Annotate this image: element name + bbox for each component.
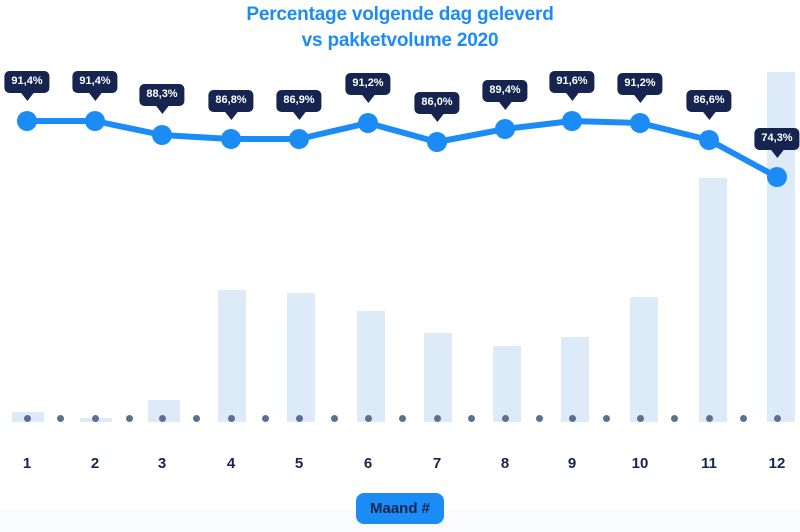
data-label-month-11: 86,6%	[686, 90, 731, 112]
line-marker-month-8[interactable]	[495, 119, 515, 139]
data-label-month-9: 91,6%	[549, 71, 594, 93]
x-tick-11: 11	[701, 455, 717, 472]
line-marker-month-12[interactable]	[767, 167, 787, 187]
line-marker-month-6[interactable]	[358, 113, 378, 133]
line-marker-month-1[interactable]	[17, 111, 37, 131]
line-marker-month-2[interactable]	[85, 111, 105, 131]
data-label-month-3: 88,3%	[139, 84, 184, 106]
data-label-month-4: 86,8%	[208, 90, 253, 112]
x-tick-2: 2	[91, 455, 99, 472]
x-tick-3: 3	[158, 455, 166, 472]
x-tick-1: 1	[23, 455, 31, 472]
line-marker-month-5[interactable]	[289, 129, 309, 149]
line-series-percentage	[0, 0, 800, 532]
data-label-month-8: 89,4%	[482, 80, 527, 102]
x-tick-5: 5	[295, 455, 303, 472]
chart-container: Percentage volgende dag geleverd vs pakk…	[0, 0, 800, 532]
x-tick-8: 8	[501, 455, 509, 472]
x-tick-7: 7	[433, 455, 441, 472]
data-label-month-10: 91,2%	[617, 73, 662, 95]
x-tick-10: 10	[632, 455, 649, 472]
data-label-month-1: 91,4%	[4, 71, 49, 93]
data-label-month-2: 91,4%	[72, 71, 117, 93]
x-tick-6: 6	[364, 455, 372, 472]
x-axis-label-pill: Maand #	[356, 493, 444, 524]
line-marker-month-10[interactable]	[630, 113, 650, 133]
x-tick-12: 12	[769, 455, 786, 472]
data-label-month-5: 86,9%	[276, 90, 321, 112]
x-tick-4: 4	[227, 455, 235, 472]
data-label-month-7: 86,0%	[414, 92, 459, 114]
line-marker-month-4[interactable]	[221, 129, 241, 149]
x-tick-9: 9	[568, 455, 576, 472]
line-marker-month-11[interactable]	[699, 130, 719, 150]
line-marker-month-7[interactable]	[427, 132, 447, 152]
data-label-month-12: 74,3%	[754, 128, 799, 150]
line-marker-month-3[interactable]	[152, 125, 172, 145]
line-marker-month-9[interactable]	[562, 111, 582, 131]
data-label-month-6: 91,2%	[345, 73, 390, 95]
